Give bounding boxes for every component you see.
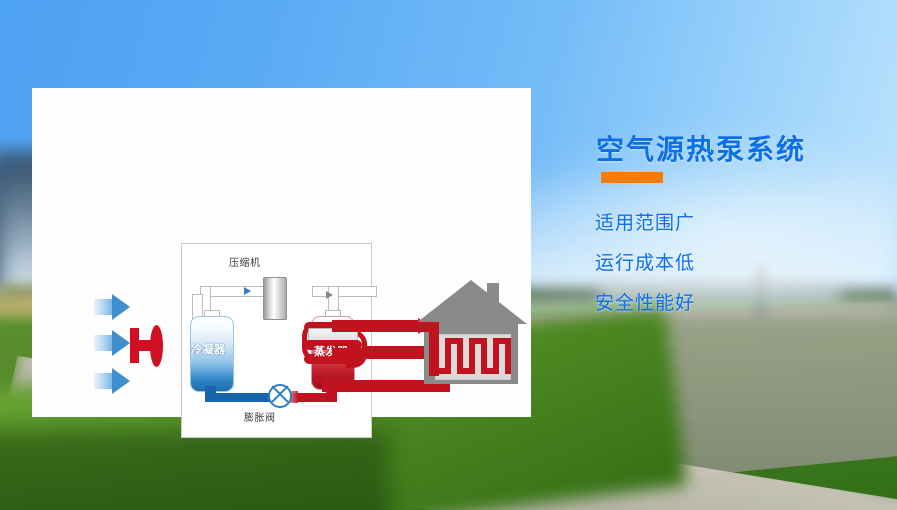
- slide-canvas: 压缩机 冷凝器 蒸发器 膨胀阀: [0, 0, 897, 510]
- flow-arrow-icon: [350, 344, 361, 358]
- grass-shadow: [0, 430, 390, 510]
- floor-coil-link: [493, 338, 511, 344]
- title-accent-bar: [601, 172, 663, 183]
- page-title: 空气源热泵系统: [596, 128, 806, 168]
- feature-bullet-1: 适用范围广: [595, 208, 695, 235]
- expansion-valve-label: 膨胀阀: [244, 413, 276, 425]
- condenser-label: 冷凝器: [191, 344, 226, 356]
- air-arrow-icon: [94, 294, 130, 320]
- floor-coil-link: [469, 338, 487, 344]
- floor-coil-link: [433, 368, 451, 374]
- pipe-top-right: [312, 286, 377, 297]
- floor-coil-inlet: [415, 322, 439, 332]
- pipe-bottom-elbow: [205, 386, 216, 398]
- air-inlet-group: [88, 284, 178, 404]
- flow-arrow-icon: [326, 291, 333, 299]
- air-arrow-icon: [94, 330, 130, 356]
- feature-bullet-2: 运行成本低: [595, 248, 695, 275]
- floor-coil-link: [445, 338, 463, 344]
- feature-bullet-3: 安全性能好: [595, 288, 695, 315]
- roof: [415, 280, 527, 324]
- air-arrow-icon: [94, 368, 130, 394]
- compressor-label: 压缩机: [229, 258, 261, 270]
- floor-coil-link: [481, 368, 499, 374]
- house-icon: [415, 280, 527, 392]
- illustration-panel: 压缩机 冷凝器 蒸发器 膨胀阀: [32, 88, 531, 417]
- fan-icon: [130, 326, 170, 366]
- floor-coil-link: [457, 368, 475, 374]
- flow-arrow-icon: [244, 287, 251, 295]
- compressor-body: [263, 277, 287, 320]
- expansion-valve-icon: [268, 384, 292, 408]
